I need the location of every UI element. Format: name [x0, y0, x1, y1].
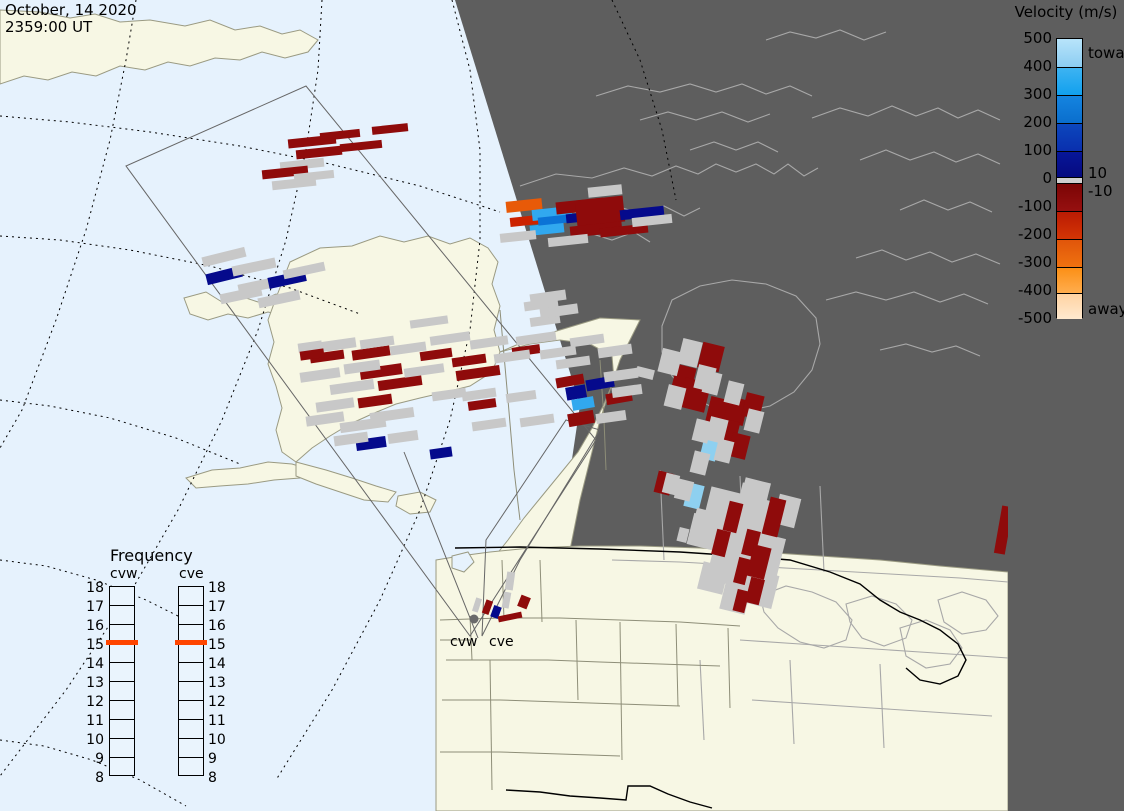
timestamp: October, 14 20202359:00 UT: [5, 2, 137, 36]
frequency-marker-cvw: [106, 640, 138, 645]
frequency-ticks-cvw: 18 17 16 15 14 13 12 11 10 9 8: [82, 580, 104, 789]
frequency-legend-title: Frequency: [110, 546, 193, 565]
velocity-tick: -100: [974, 198, 1052, 226]
frequency-legend: Frequency cvw 18 17 16 15 14 13 12 11 10…: [82, 546, 242, 791]
freq-tick: 12: [208, 694, 230, 713]
velocity-inner-low-label: -10: [1088, 182, 1113, 200]
freq-tick: 13: [82, 675, 104, 694]
velocity-tick: 200: [974, 114, 1052, 142]
frequency-column-name-cvw: cvw: [110, 566, 137, 582]
freq-tick: 15: [208, 637, 230, 656]
velocity-inner-high-label: 10: [1088, 164, 1107, 182]
velocity-toward-label: toward: [1088, 44, 1124, 62]
freq-tick: 15: [82, 637, 104, 656]
freq-tick: 9: [82, 751, 104, 770]
freq-tick: 17: [208, 599, 230, 618]
freq-tick: 10: [208, 732, 230, 751]
superdarn-map-page: October, 14 20202359:00 UT cvw cve Frequ…: [0, 0, 1124, 811]
velocity-tick: 0: [974, 170, 1052, 198]
timestamp-date: October, 14 2020: [5, 1, 137, 19]
frequency-bar-cve[interactable]: [178, 586, 204, 776]
velocity-tick: 500: [974, 30, 1052, 58]
velocity-tick-labels: 500 400 300 200 100 0 -100 -200 -300 -40…: [974, 30, 1052, 338]
radar-site-label-cve[interactable]: cve: [489, 634, 514, 650]
velocity-tick: -400: [974, 282, 1052, 310]
freq-tick: 9: [208, 751, 230, 770]
frequency-column-name-cve: cve: [179, 566, 204, 582]
cb-seg-toward-200: [1057, 123, 1082, 151]
freq-tick: 14: [208, 656, 230, 675]
velocity-tick: -300: [974, 254, 1052, 282]
freq-tick: 18: [82, 580, 104, 599]
velocity-tick: -500: [974, 310, 1052, 338]
cb-seg-away-500: [1057, 293, 1082, 319]
cb-seg-away-400: [1057, 267, 1082, 293]
velocity-tick: 100: [974, 142, 1052, 170]
freq-tick: 10: [82, 732, 104, 751]
frequency-bar-cvw[interactable]: [109, 586, 135, 776]
cb-seg-away-300: [1057, 239, 1082, 267]
freq-tick: 16: [82, 618, 104, 637]
freq-tick: 13: [208, 675, 230, 694]
freq-tick: 17: [82, 599, 104, 618]
velocity-tick: -200: [974, 226, 1052, 254]
freq-tick: 18: [208, 580, 230, 599]
freq-tick: 8: [208, 770, 230, 789]
cb-seg-toward-100: [1057, 151, 1082, 177]
velocity-away-label: away: [1088, 300, 1124, 318]
cb-seg-away-200: [1057, 211, 1082, 239]
cb-seg-away-100: [1057, 183, 1082, 211]
freq-tick: 14: [82, 656, 104, 675]
freq-tick: 11: [208, 713, 230, 732]
velocity-legend-title: Velocity (m/s): [986, 3, 1124, 21]
velocity-colorbar[interactable]: [1056, 38, 1083, 318]
timestamp-time: 2359:00 UT: [5, 18, 92, 36]
frequency-ticks-cve: 18 17 16 15 14 13 12 11 10 9 8: [208, 580, 230, 789]
radar-site-label-cvw[interactable]: cvw: [450, 634, 477, 650]
cb-seg-toward-500: [1057, 39, 1082, 67]
map-canvas[interactable]: October, 14 20202359:00 UT cvw cve Frequ…: [0, 0, 1008, 811]
velocity-legend-panel: Velocity (m/s) 500 400 300 200 100 0 -10…: [1008, 0, 1124, 811]
velocity-tick: 400: [974, 58, 1052, 86]
cb-seg-toward-300: [1057, 95, 1082, 123]
velocity-tick: 300: [974, 86, 1052, 114]
freq-tick: 8: [82, 770, 104, 789]
freq-tick: 11: [82, 713, 104, 732]
frequency-marker-cve: [175, 640, 207, 645]
freq-tick: 12: [82, 694, 104, 713]
cb-seg-toward-400: [1057, 67, 1082, 95]
freq-tick: 16: [208, 618, 230, 637]
